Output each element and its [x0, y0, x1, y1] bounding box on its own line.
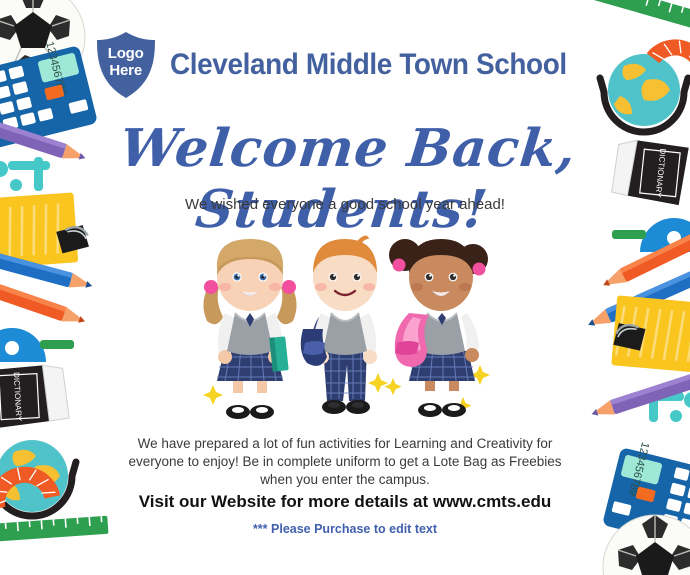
blue-protractor-icon [0, 322, 80, 364]
purchase-watermark: *** Please Purchase to edit text [0, 522, 690, 536]
welcome-subtitle: We wished everyone a good school year ah… [0, 196, 690, 213]
school-name-title: Cleveland Middle Town School [170, 48, 567, 82]
school-shield-logo: Logo Here [94, 31, 158, 99]
welcome-headline: Welcome Back, Students! [0, 118, 690, 240]
body-paragraph: We have prepared a lot of fun activities… [115, 435, 575, 489]
poster-canvas: 123456789 [0, 0, 690, 575]
dictionary-book-icon: DICTIONARY [0, 362, 72, 430]
poster-header: Logo Here Cleveland Middle Town School [0, 30, 690, 100]
child-boy-center [301, 235, 377, 414]
shield-logo-line1: Logo [94, 45, 158, 62]
website-line: Visit our Website for more details at ww… [0, 492, 690, 512]
child-girl-right [389, 239, 488, 417]
three-school-children-illustration [195, 225, 495, 425]
pink-backpack [395, 313, 429, 367]
binder-clip-icon [609, 319, 653, 354]
shield-logo-line2: Here [94, 62, 158, 79]
shield-logo-text: Logo Here [94, 45, 158, 79]
child-girl-left [203, 239, 296, 419]
